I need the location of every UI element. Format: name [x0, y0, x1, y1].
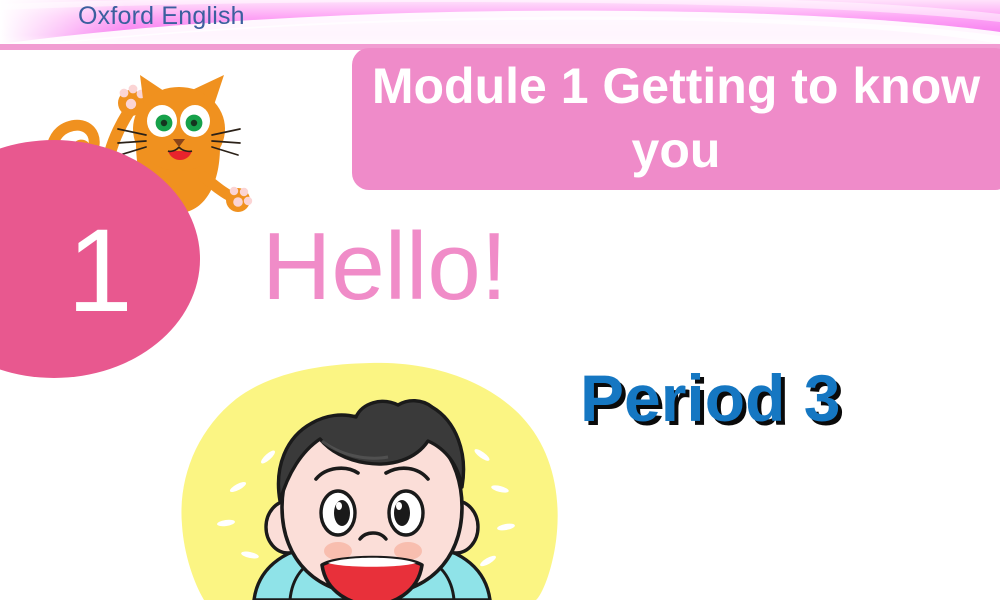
brand-title: Oxford English	[78, 2, 245, 31]
lesson-title: Hello!	[262, 212, 507, 322]
smiling-boy-illustration	[170, 355, 570, 600]
module-title-text: Module 1 Getting to know you	[352, 54, 1000, 182]
period-label: Period 3	[580, 358, 840, 438]
unit-number-label: 1	[55, 212, 145, 330]
module-title-banner: Module 1 Getting to know you	[352, 48, 1000, 190]
slide-canvas: Oxford English	[0, 0, 1000, 600]
